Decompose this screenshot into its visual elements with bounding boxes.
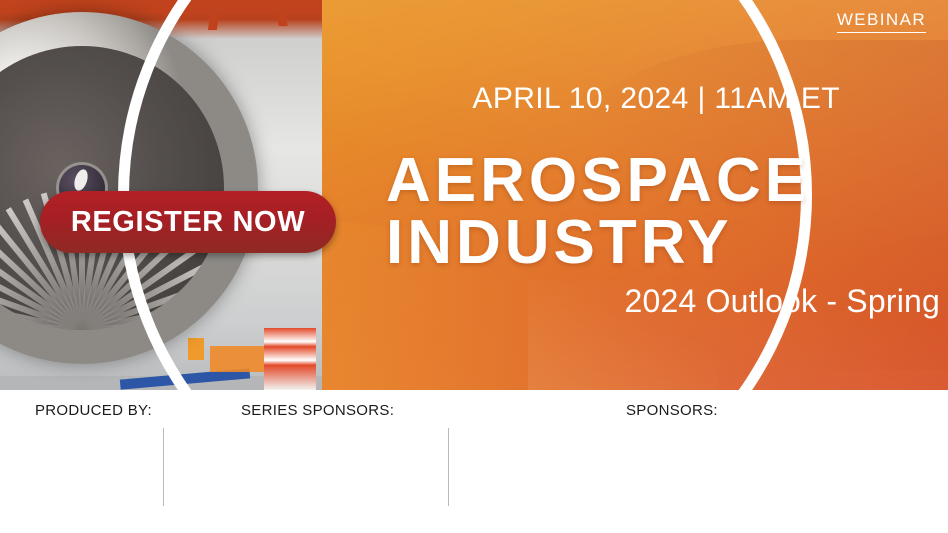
page-title-line1: AEROSPACE: [386, 152, 946, 210]
produced-by-heading: PRODUCED BY:: [35, 402, 152, 419]
webinar-badge: WEBINAR: [837, 11, 926, 33]
hero-section: WEBINAR APRIL 10, 2024 | 11AM ET AEROSPA…: [0, 0, 948, 390]
series-sponsors-heading: SERIES SPONSORS:: [241, 402, 394, 419]
event-dateline: APRIL 10, 2024 | 11AM ET: [472, 82, 840, 116]
sponsor-footer: PRODUCED BY: SERIES SPONSORS: SPONSORS: …: [0, 390, 948, 533]
page-title-line2: INDUSTRY: [386, 214, 946, 272]
footer-divider: [448, 428, 449, 506]
page-subtitle: 2024 Outlook - Spring: [386, 283, 946, 320]
title-block: AEROSPACE INDUSTRY 2024 Outlook - Spring: [386, 152, 946, 320]
register-now-button[interactable]: REGISTER NOW: [40, 191, 336, 253]
footer-divider: [163, 428, 164, 506]
webinar-promo-banner: WEBINAR APRIL 10, 2024 | 11AM ET AEROSPA…: [0, 0, 948, 533]
sponsors-heading: SPONSORS:: [626, 402, 718, 419]
